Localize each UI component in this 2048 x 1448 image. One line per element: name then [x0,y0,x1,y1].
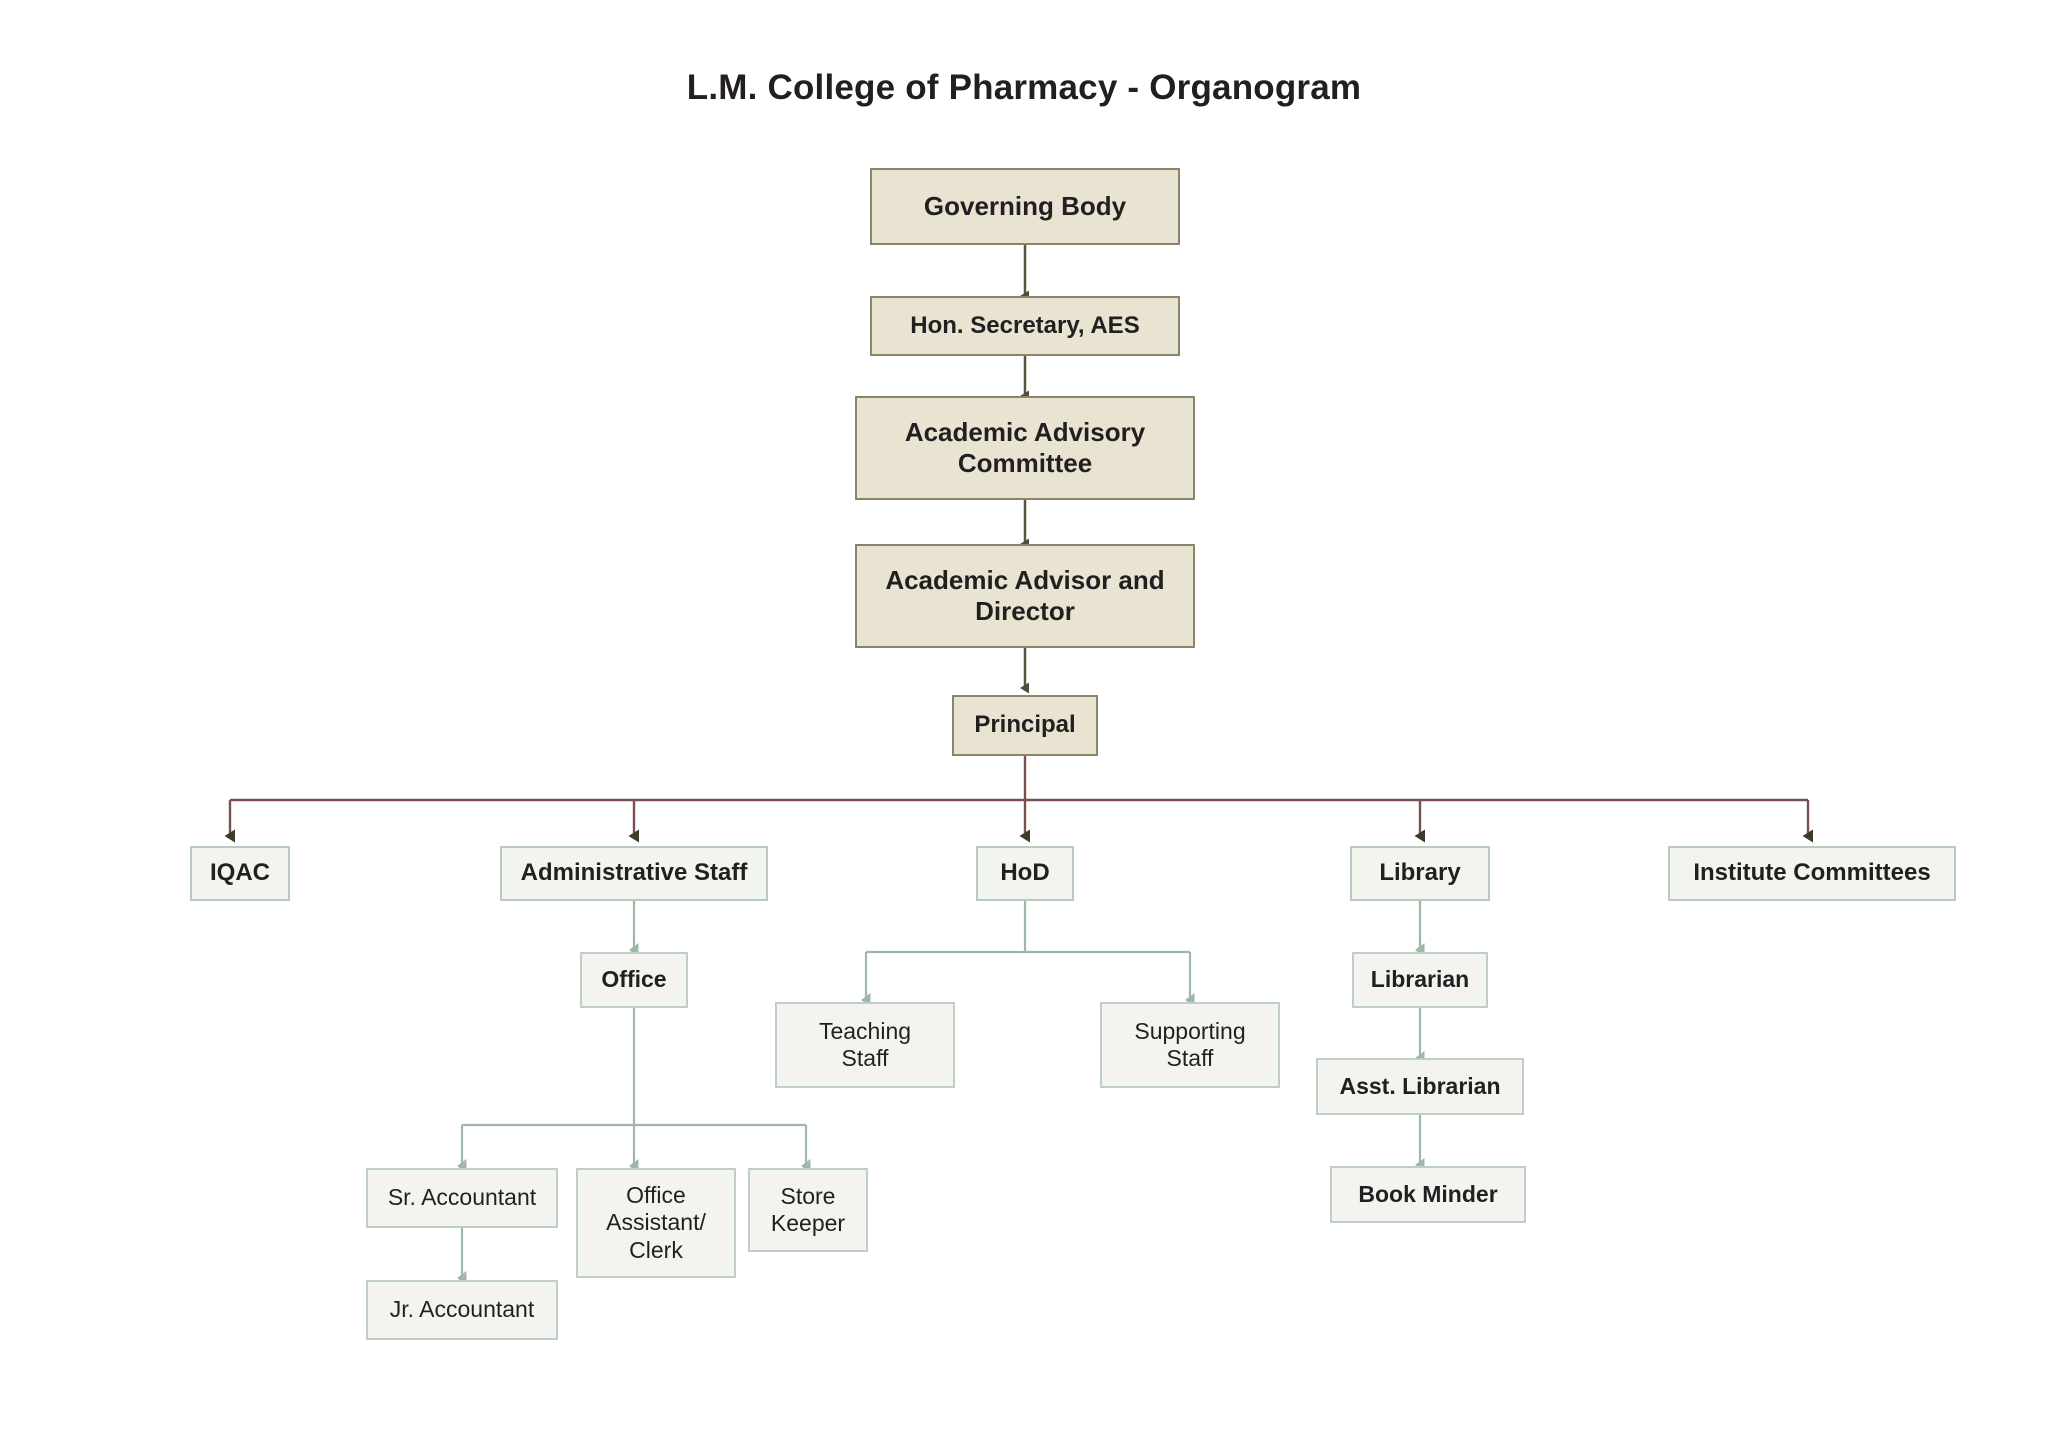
node-librarian[interactable]: Librarian [1352,952,1488,1008]
node-academic-advisory-committee[interactable]: Academic Advisory Committee [855,396,1195,500]
node-iqac[interactable]: IQAC [190,846,290,901]
node-sr-accountant[interactable]: Sr. Accountant [366,1168,558,1228]
node-jr-accountant[interactable]: Jr. Accountant [366,1280,558,1340]
page-title: L.M. College of Pharmacy - Organogram [0,68,2048,108]
node-label: Office [593,966,674,993]
node-label: Teaching Staff [811,1018,919,1072]
node-label: HoD [992,859,1057,887]
node-book-minder[interactable]: Book Minder [1330,1166,1526,1223]
node-supporting-staff[interactable]: Supporting Staff [1100,1002,1280,1088]
node-store-keeper[interactable]: Store Keeper [748,1168,868,1252]
node-library[interactable]: Library [1350,846,1490,901]
hod-connectors [866,901,1190,1000]
node-label: Jr. Accountant [382,1296,542,1323]
node-teaching-staff[interactable]: Teaching Staff [775,1002,955,1088]
node-institute-committees[interactable]: Institute Committees [1668,846,1956,901]
node-label: Governing Body [916,191,1134,222]
node-label: Principal [966,711,1083,739]
node-principal[interactable]: Principal [952,695,1098,756]
node-label: Hon. Secretary, AES [902,312,1147,340]
node-label: Store Keeper [763,1183,853,1237]
principal-drops [230,800,1808,836]
node-label: Academic Advisor and Director [877,565,1172,626]
node-label: Sr. Accountant [380,1184,544,1211]
node-label: Administrative Staff [513,859,756,887]
node-label: IQAC [202,859,278,887]
node-label: Academic Advisory Committee [897,417,1153,478]
node-administrative-staff[interactable]: Administrative Staff [500,846,768,901]
node-asst-librarian[interactable]: Asst. Librarian [1316,1058,1524,1115]
node-label: Institute Committees [1685,859,1938,887]
node-office[interactable]: Office [580,952,688,1008]
node-label: Office Assistant/ Clerk [598,1182,714,1263]
node-label: Librarian [1363,966,1477,993]
node-governing-body[interactable]: Governing Body [870,168,1180,245]
node-label: Book Minder [1350,1181,1505,1208]
node-label: Asst. Librarian [1331,1073,1508,1100]
organogram-canvas: L.M. College of Pharmacy - Organogram Go… [0,0,2048,1448]
node-office-assistant-clerk[interactable]: Office Assistant/ Clerk [576,1168,736,1278]
node-label: Library [1371,859,1468,887]
node-hod[interactable]: HoD [976,846,1074,901]
node-hon-secretary[interactable]: Hon. Secretary, AES [870,296,1180,356]
node-label: Supporting Staff [1126,1018,1253,1072]
node-academic-advisor-director[interactable]: Academic Advisor and Director [855,544,1195,648]
principal-distribution [230,756,1808,800]
